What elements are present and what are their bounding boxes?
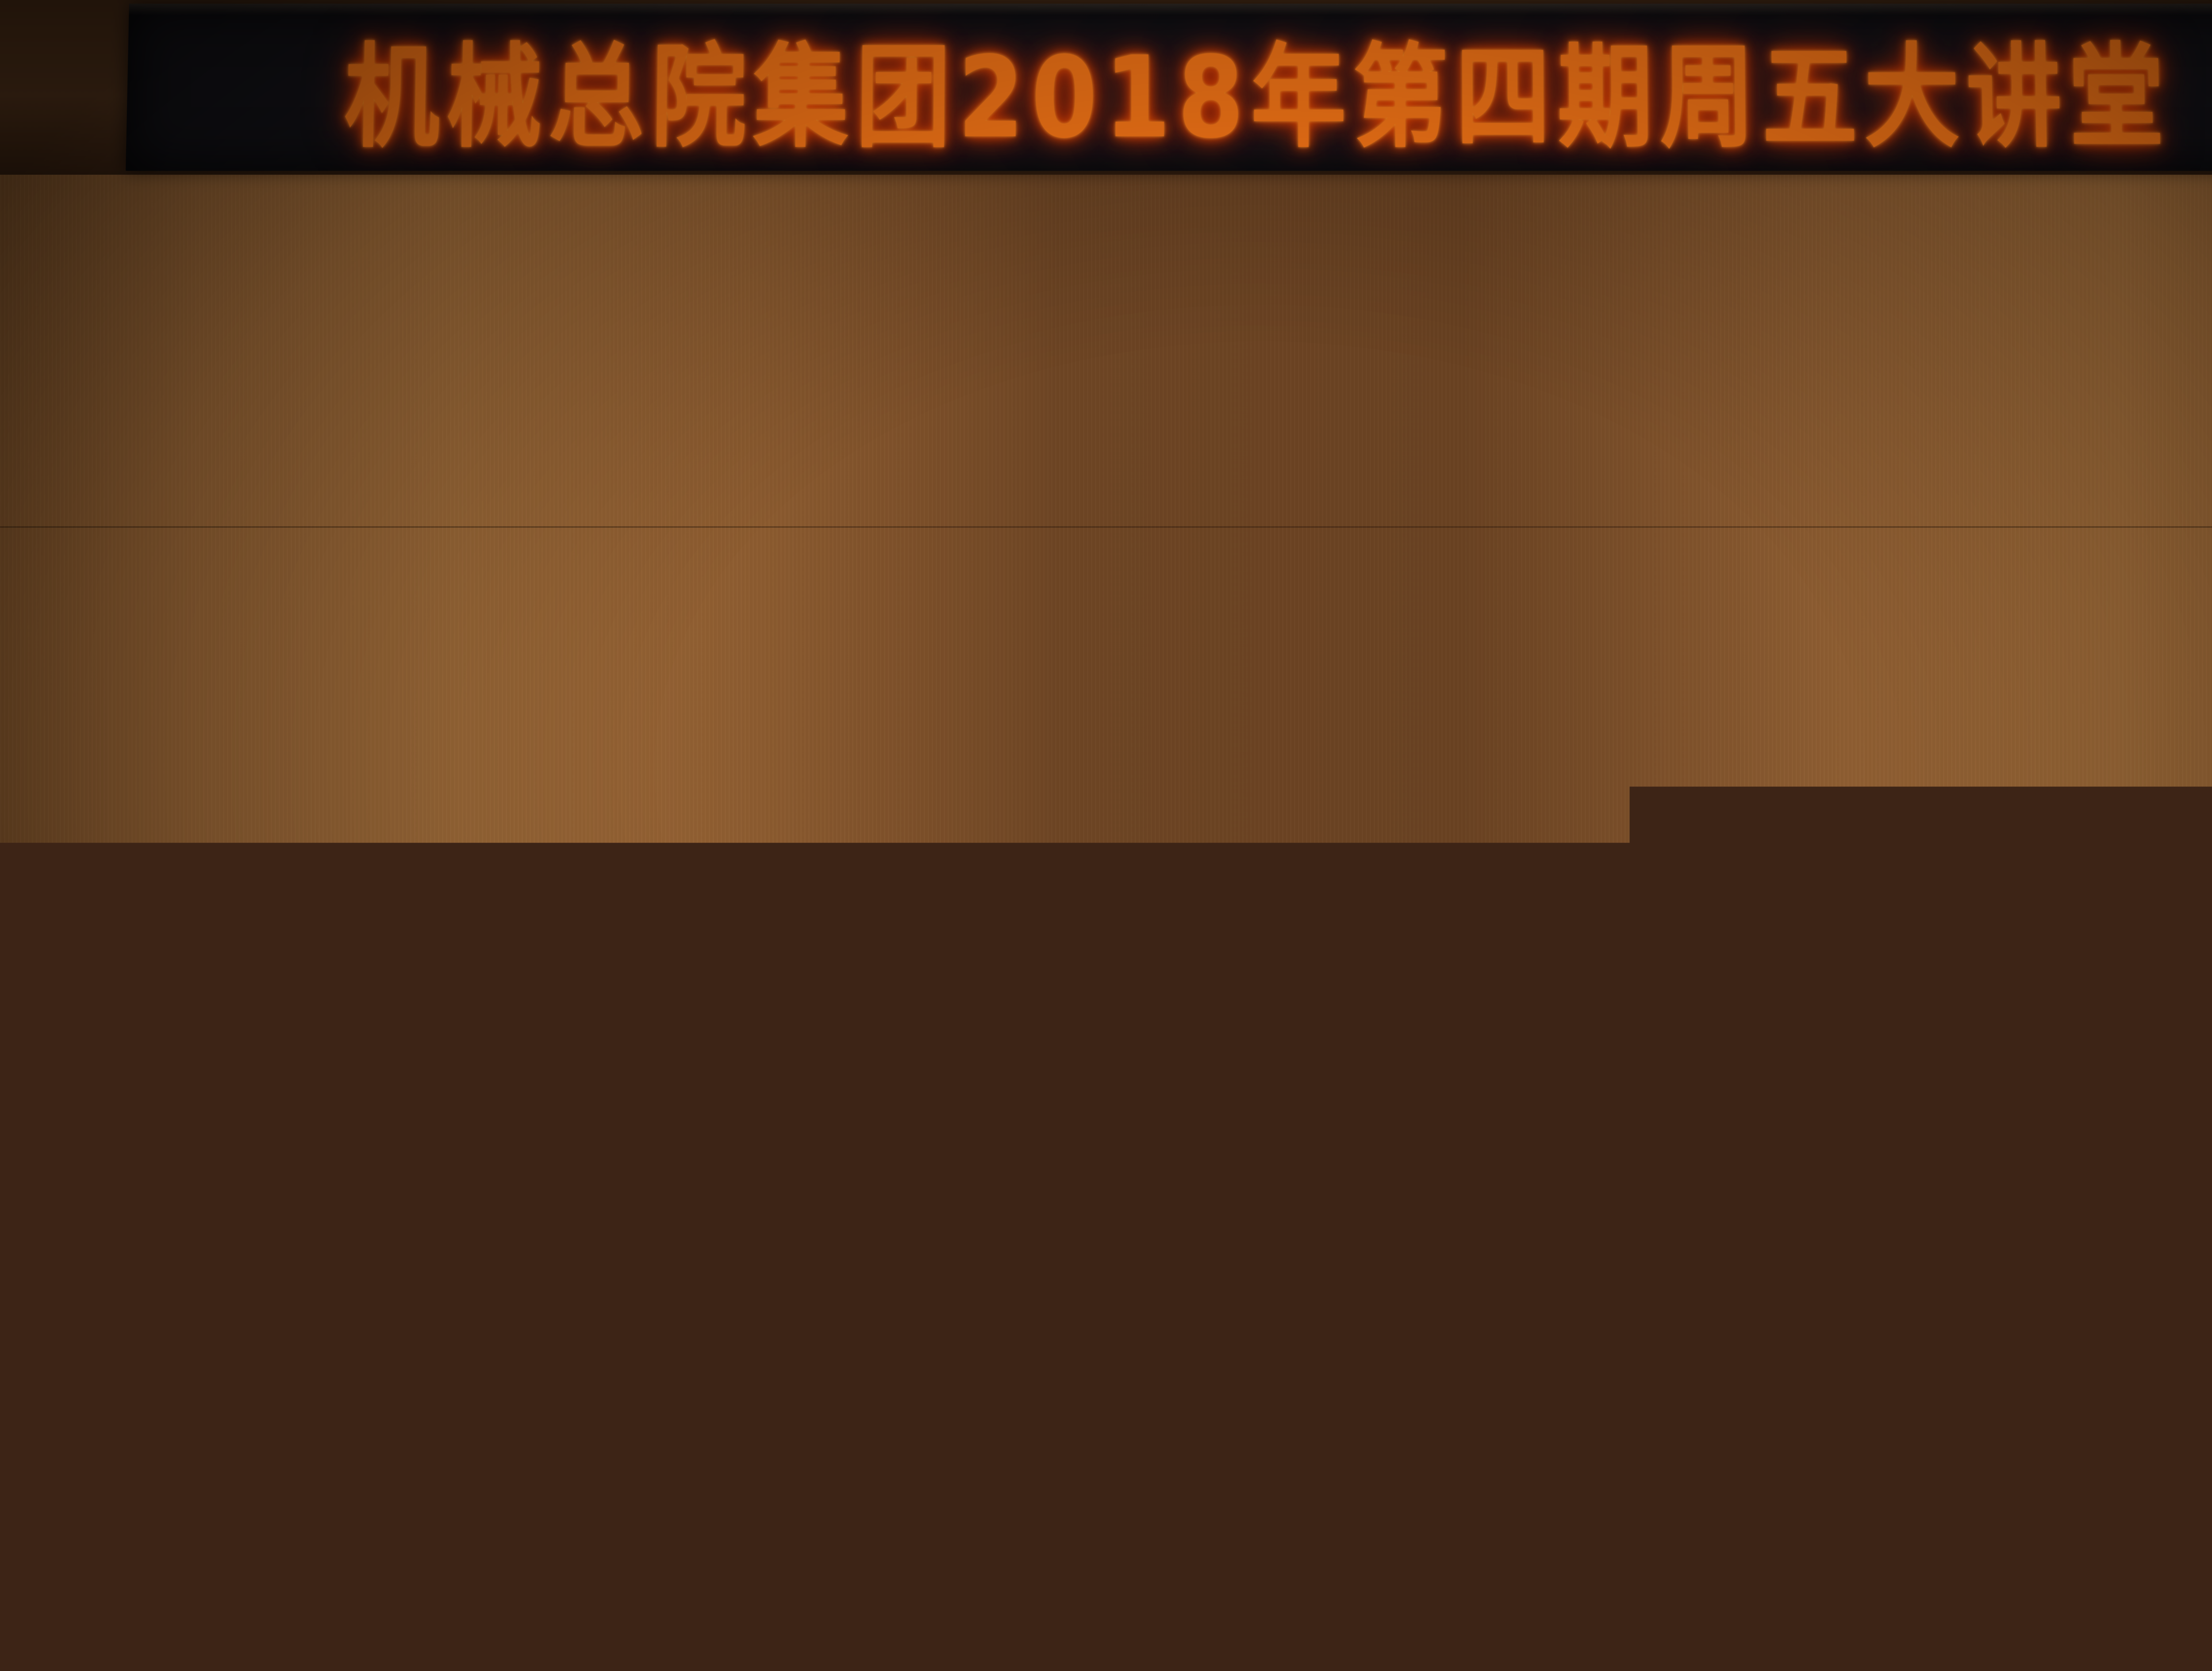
slide-speaker-name: Professor Brian Andrew Shaw	[1117, 625, 1711, 678]
bottle-label: 农夫山泉NONGFU SPRING	[1018, 1288, 1049, 1340]
bottle-neck	[1204, 1215, 1217, 1235]
audience-area: 农夫山泉NONGFU SPRING农夫山泉NONGFU SPRING农夫山泉NO…	[0, 1132, 2212, 1671]
bottle-label: 农夫山泉NONGFU SPRING	[1992, 1476, 2023, 1528]
mountain-peak-icon	[1970, 1284, 1984, 1295]
photo-notepad	[580, 1008, 972, 1153]
bottle-brand-en: NONGFU SPRING	[470, 1385, 501, 1394]
bottle-label: 农夫山泉NONGFU SPRING	[1855, 1546, 1886, 1598]
bottle-brand-cn: 农夫山泉	[1855, 1566, 1886, 1575]
slide-photo-hand-writing	[497, 375, 1019, 1153]
microphone-indicator-light	[538, 836, 547, 845]
bottle-brand-cn: 农夫山泉	[1133, 1566, 1164, 1575]
bottle-cap	[528, 1442, 549, 1460]
bottle-neck	[479, 1295, 492, 1315]
mountain-peak-icon	[579, 1277, 593, 1288]
bottle-label: 农夫山泉NONGFU SPRING	[1963, 1281, 1994, 1333]
camera-base	[2041, 808, 2093, 827]
mountain-peak-icon	[1517, 1279, 1531, 1291]
audience-head	[1752, 1309, 1911, 1460]
bottle-brand-en: NONGFU SPRING	[1963, 1310, 1994, 1319]
slide-topic-english: Introduction of advanced manufacturing t…	[1134, 833, 1824, 915]
jacket-pocket-trim	[445, 896, 475, 900]
bottle-neck	[580, 1213, 594, 1234]
bottle-cap	[1860, 1468, 1880, 1486]
led-banner-text: 机械总院集团2018年第四期周五大讲堂	[343, 6, 2172, 169]
keys-on-desk	[1327, 1601, 1376, 1622]
bottle-cap	[1997, 1398, 2017, 1415]
desk-far	[1172, 1244, 1792, 1268]
eyeglasses	[1531, 1486, 1610, 1508]
bottle-brand-cn: 农夫山泉	[470, 1376, 501, 1385]
led-banner: 机械总院集团2018年第四期周五大讲堂	[126, 4, 2212, 171]
projection-screen-frame: 机械总院集团青年创新创业行动 ——周五大讲堂 主讲人 Professor Bri…	[490, 368, 2017, 1160]
bottle-brand-en: NONGFU SPRING	[1195, 1305, 1226, 1314]
camera-lens-icon	[2053, 779, 2078, 804]
mountain-peak-icon	[477, 1359, 491, 1370]
curtain-right	[2024, 190, 2212, 1283]
bottle-neck	[2001, 1414, 2014, 1435]
slide-badge-topic: 报告题目	[872, 786, 1058, 839]
bottle-label: 农夫山泉NONGFU SPRING	[572, 1274, 603, 1326]
bottle-brand-en: NONGFU SPRING	[572, 1303, 603, 1312]
mountain-peak-icon	[1862, 1549, 1876, 1560]
bottle-cap	[1515, 1199, 1535, 1216]
bottle-neck	[1027, 1226, 1041, 1247]
bottle-brand-cn: 农夫山泉	[1018, 1307, 1049, 1316]
mountain-peak-icon	[530, 1522, 544, 1534]
mountain-peak-icon	[1141, 1549, 1155, 1560]
bottle-brand-en: NONGFU SPRING	[1618, 1323, 1649, 1332]
bottle-label: 农夫山泉NONGFU SPRING	[1133, 1546, 1164, 1598]
bottle-brand-cn: 农夫山泉	[572, 1294, 603, 1303]
bottle-brand-cn: 农夫山泉	[1350, 1321, 1381, 1330]
bottle-neck	[532, 1459, 545, 1479]
bottle-label: 农夫山泉NONGFU SPRING	[1509, 1276, 1540, 1329]
photo-sleeve	[692, 468, 922, 716]
photo-pen-tip	[637, 644, 667, 699]
mountain-peak-icon	[1202, 1278, 1217, 1290]
bottle-brand-cn: 农夫山泉	[523, 1539, 554, 1548]
slide-navy-triangle	[1187, 878, 1462, 1153]
bottle-brand-cn: 农夫山泉	[1195, 1295, 1226, 1304]
bottle-neck	[1518, 1215, 1532, 1236]
bottle-neck	[1359, 1240, 1372, 1261]
mountain-peak-icon	[1025, 1290, 1040, 1302]
bottle-brand-cn: 农夫山泉	[1509, 1296, 1540, 1305]
bottle-neck	[1627, 1233, 1640, 1253]
mountain-peak-icon	[1999, 1478, 2013, 1490]
mountain-peak-icon	[1625, 1297, 1639, 1308]
podium-area	[367, 770, 597, 1017]
bottle-label: 农夫山泉NONGFU SPRING	[1618, 1294, 1649, 1346]
mountain-peak-icon	[1357, 1304, 1371, 1315]
bottle-brand-en: NONGFU SPRING	[1350, 1330, 1381, 1339]
bottle-cap	[1356, 1223, 1376, 1241]
bottle-brand-en: NONGFU SPRING	[1509, 1306, 1540, 1315]
bottle-cap	[475, 1278, 495, 1296]
lecture-hall-photo: 机械总院集团2018年第四期周五大讲堂	[0, 0, 2212, 1671]
bottle-brand-cn: 农夫山泉	[1618, 1314, 1649, 1323]
bottle-label: 农夫山泉NONGFU SPRING	[1195, 1276, 1226, 1328]
thermos-flask	[1318, 1442, 1353, 1526]
bottle-label: 农夫山泉NONGFU SPRING	[470, 1356, 501, 1408]
audience-head	[270, 1172, 403, 1296]
podium	[376, 916, 575, 1017]
bottle-brand-en: NONGFU SPRING	[1018, 1317, 1049, 1326]
eyeglasses-lens	[1575, 1486, 1608, 1506]
bottle-cap	[1968, 1203, 1989, 1221]
audience-head	[1938, 1190, 2062, 1309]
lapel-pin	[448, 866, 457, 876]
slide-topic-english-line2: manufacturing technology in Europe	[1134, 874, 1824, 915]
audience-body	[1495, 1632, 1960, 1671]
bottle-label: 农夫山泉NONGFU SPRING	[523, 1520, 554, 1572]
bottle-brand-en: NONGFU SPRING	[1992, 1505, 2023, 1514]
slide-topic-chinese: 欧洲前沿制造技术简介	[1134, 769, 1647, 840]
slide-badge-speaker: 主讲人	[872, 625, 1058, 678]
presenter-head	[454, 789, 512, 859]
eyeglasses-lens	[1531, 1486, 1563, 1506]
curtain-left	[163, 190, 490, 1283]
bottle-neck	[1863, 1485, 1877, 1506]
audience-head	[827, 1141, 938, 1252]
bottle-brand-en: NONGFU SPRING	[523, 1549, 554, 1558]
slide-subtitle: ——周五大讲堂	[1046, 521, 1944, 602]
bottle-cap	[1024, 1210, 1044, 1227]
audience-body	[1084, 1225, 1261, 1367]
slide-title: 机械总院集团青年创新创业行动	[1046, 441, 1944, 499]
bottle-brand-en: NONGFU SPRING	[1133, 1575, 1164, 1584]
slide-topic-english-line1: Introduction of advanced	[1134, 833, 1824, 874]
ptz-camera	[2033, 762, 2095, 828]
bottle-cap	[1201, 1198, 1221, 1215]
bottle-brand-cn: 农夫山泉	[1992, 1495, 2023, 1504]
bottle-label: 农夫山泉NONGFU SPRING	[1350, 1301, 1381, 1353]
bottle-cap	[1623, 1216, 1644, 1234]
jacket-pocket-trim	[500, 896, 530, 900]
bottle-brand-en: NONGFU SPRING	[1855, 1575, 1886, 1584]
bottle-neck	[1142, 1485, 1156, 1506]
bottle-neck	[1972, 1220, 1985, 1240]
audience-head-foreground	[690, 1437, 1000, 1671]
bottle-cap	[577, 1196, 597, 1214]
projection-screen: 机械总院集团青年创新创业行动 ——周五大讲堂 主讲人 Professor Bri…	[497, 375, 2010, 1153]
bottle-cap	[1139, 1468, 1159, 1486]
audience-body-floral-dress	[0, 1530, 257, 1671]
bottle-brand-cn: 农夫山泉	[1963, 1300, 1994, 1310]
